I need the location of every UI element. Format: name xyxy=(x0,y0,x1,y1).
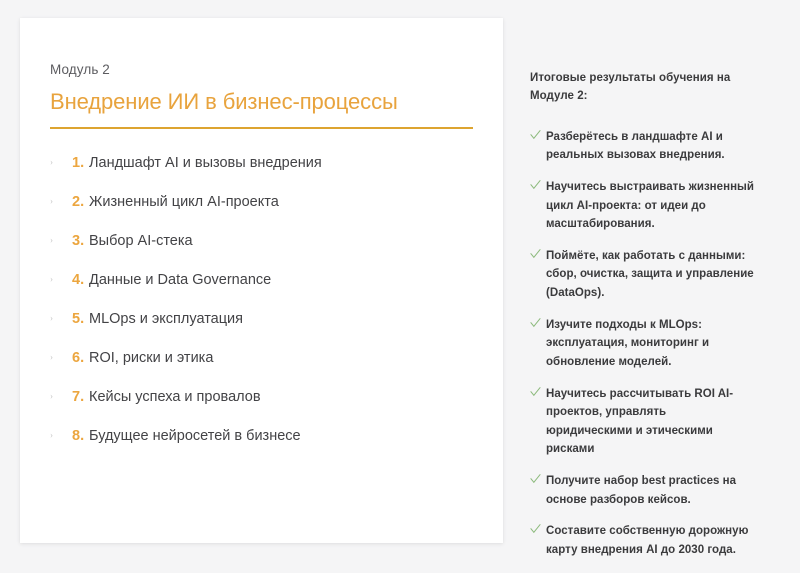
outcome-text: Получите набор best practices на основе … xyxy=(546,475,736,506)
list-item: Научитесь выстраивать жизненный цикл AI-… xyxy=(530,178,755,234)
list-item: Изучите подходы к MLOps: эксплуатация, м… xyxy=(530,316,755,372)
check-icon xyxy=(530,523,541,535)
table-of-contents: › 1. Ландшафт AI и вызовы внедрения › 2.… xyxy=(50,155,473,445)
outcomes-list: Разберётесь в ландшафте AI и реальных вы… xyxy=(530,128,755,560)
list-item[interactable]: › 2. Жизненный цикл AI-проекта xyxy=(50,194,473,211)
check-icon xyxy=(530,179,541,191)
slide-canvas: Модуль 2 Внедрение ИИ в бизнес-процессы … xyxy=(0,0,800,560)
outcomes-heading: Итоговые результаты обучения на Модуле 2… xyxy=(530,70,755,106)
list-item-label: MLOps и эксплуатация xyxy=(89,311,243,328)
chevron-right-icon: › xyxy=(50,428,53,443)
list-item: Поймёте, как работать с данными: сбор, о… xyxy=(530,247,755,303)
list-item[interactable]: › 1. Ландшафт AI и вызовы внедрения xyxy=(50,155,473,172)
module-card: Модуль 2 Внедрение ИИ в бизнес-процессы … xyxy=(20,18,503,543)
chevron-right-icon: › xyxy=(50,194,53,209)
chevron-right-icon: › xyxy=(50,272,53,287)
list-item[interactable]: › 6. ROI, риски и этика xyxy=(50,350,473,367)
outcome-text: Составите собственную дорожную карту вне… xyxy=(546,525,748,556)
list-item: Составите собственную дорожную карту вне… xyxy=(530,522,755,559)
list-item[interactable]: › 7. Кейсы успеха и провалов xyxy=(50,389,473,406)
list-item-label: Кейсы успеха и провалов xyxy=(89,389,261,406)
list-item-number: 1. xyxy=(72,155,89,171)
list-item: Разберётесь в ландшафте AI и реальных вы… xyxy=(530,128,755,165)
chevron-right-icon: › xyxy=(50,350,53,365)
page-title: Внедрение ИИ в бизнес-процессы xyxy=(50,89,473,114)
check-icon xyxy=(530,248,541,260)
list-item: Получите набор best practices на основе … xyxy=(530,472,755,509)
list-item[interactable]: › 8. Будущее нейросетей в бизнесе xyxy=(50,428,473,445)
list-item-label: Ландшафт AI и вызовы внедрения xyxy=(89,155,322,172)
outcome-text: Изучите подходы к MLOps: эксплуатация, м… xyxy=(546,319,709,368)
list-item-number: 8. xyxy=(72,428,89,444)
list-item[interactable]: › 3. Выбор AI-стека xyxy=(50,233,473,250)
list-item-label: Выбор AI-стека xyxy=(89,233,193,250)
outcome-text: Разберётесь в ландшафте AI и реальных вы… xyxy=(546,131,725,162)
list-item-number: 4. xyxy=(72,272,89,288)
check-icon xyxy=(530,473,541,485)
list-item-label: Данные и Data Governance xyxy=(89,272,271,289)
chevron-right-icon: › xyxy=(50,389,53,404)
list-item: Научитесь рассчитывать ROI AI-проектов, … xyxy=(530,385,755,460)
list-item[interactable]: › 4. Данные и Data Governance xyxy=(50,272,473,289)
chevron-right-icon: › xyxy=(50,155,53,170)
outcome-text: Научитесь рассчитывать ROI AI-проектов, … xyxy=(546,388,733,456)
list-item-number: 6. xyxy=(72,350,89,366)
check-icon xyxy=(530,129,541,141)
chevron-right-icon: › xyxy=(50,311,53,326)
list-item[interactable]: › 5. MLOps и эксплуатация xyxy=(50,311,473,328)
title-divider xyxy=(50,127,473,129)
outcome-text: Поймёте, как работать с данными: сбор, о… xyxy=(546,250,754,299)
check-icon xyxy=(530,317,541,329)
list-item-number: 5. xyxy=(72,311,89,327)
list-item-label: Будущее нейросетей в бизнесе xyxy=(89,428,301,445)
module-label: Модуль 2 xyxy=(50,62,473,77)
chevron-right-icon: › xyxy=(50,233,53,248)
check-icon xyxy=(530,386,541,398)
module-card-content: Модуль 2 Внедрение ИИ в бизнес-процессы … xyxy=(20,18,503,445)
list-item-number: 2. xyxy=(72,194,89,210)
list-item-label: ROI, риски и этика xyxy=(89,350,213,367)
list-item-number: 7. xyxy=(72,389,89,405)
list-item-label: Жизненный цикл AI-проекта xyxy=(89,194,279,211)
outcome-text: Научитесь выстраивать жизненный цикл AI-… xyxy=(546,181,754,230)
list-item-number: 3. xyxy=(72,233,89,249)
learning-outcomes-panel: Итоговые результаты обучения на Модуле 2… xyxy=(530,70,755,573)
